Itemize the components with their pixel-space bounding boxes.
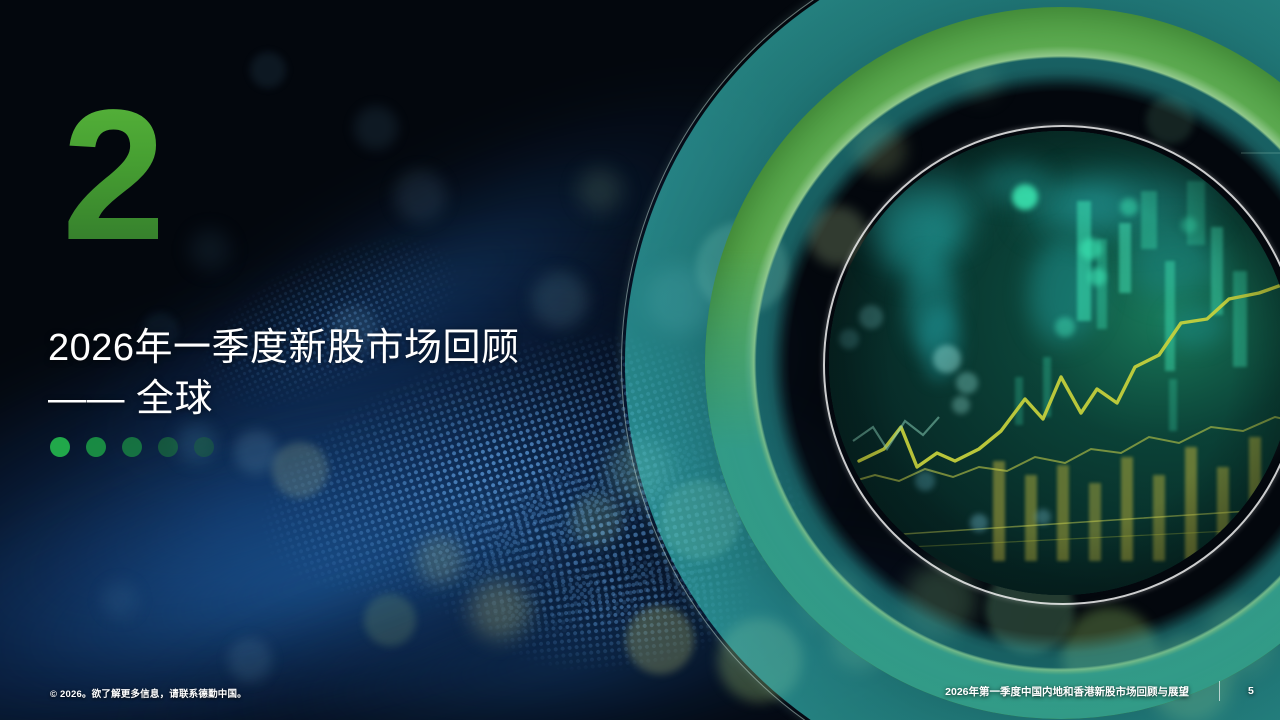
bokeh-particle [272, 442, 328, 498]
section-number: 2 [62, 92, 163, 259]
bokeh-particle [102, 582, 138, 618]
bokeh-particle [234, 430, 278, 474]
bokeh-particle [470, 580, 530, 640]
bokeh-particle [416, 536, 464, 584]
title-line-2: —— 全球 [48, 374, 668, 425]
dot-5 [194, 437, 214, 457]
footer-separator [1219, 681, 1220, 701]
progress-dots [50, 437, 214, 457]
dot-1 [50, 437, 70, 457]
slide-root: 2 2026年一季度新股市场回顾 —— 全球 © 2026。欲了解更多信息，请联… [0, 0, 1280, 720]
bokeh-particle [364, 594, 416, 646]
dot-4 [158, 437, 178, 457]
bokeh-particle [578, 168, 622, 212]
footer-document-title: 2026年第一季度中国内地和香港新股市场回顾与展望 [945, 684, 1189, 699]
bokeh-particle [354, 106, 398, 150]
bokeh-particle [250, 52, 286, 88]
bokeh-particle [190, 230, 230, 270]
dot-3 [122, 437, 142, 457]
bokeh-particle [394, 170, 446, 222]
title-line-1: 2026年一季度新股市场回顾 [48, 327, 520, 369]
page-title: 2026年一季度新股市场回顾 —— 全球 [48, 323, 668, 425]
footer-right-group: 2026年第一季度中国内地和香港新股市场回顾与展望 5 [945, 681, 1262, 701]
footer-copyright: © 2026。欲了解更多信息，请联系德勤中国。 [50, 686, 247, 700]
outer-disc-chart-line [621, 0, 1280, 720]
bokeh-particle [570, 494, 622, 546]
bokeh-particle [228, 638, 272, 682]
dot-2 [86, 437, 106, 457]
bokeh-particle [532, 272, 588, 328]
footer-page-number: 5 [1248, 685, 1262, 697]
